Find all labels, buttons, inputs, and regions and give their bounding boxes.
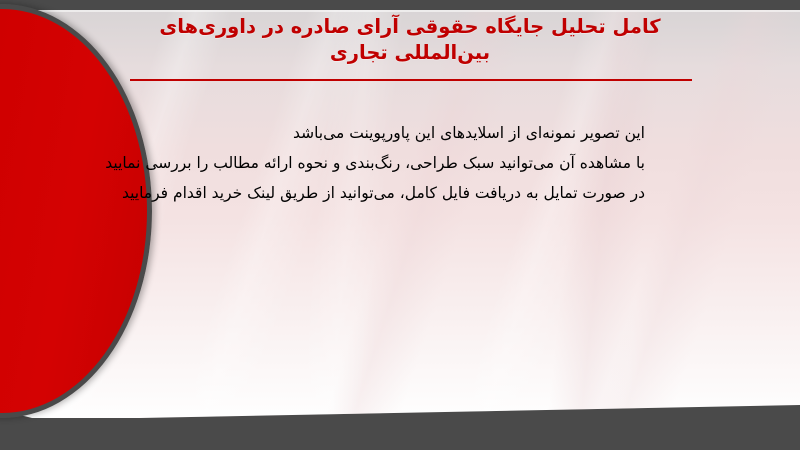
body-line-3: در صورت تمایل به دریافت فایل کامل، می‌تو… (125, 178, 645, 208)
slide-frame-bottom-bar (0, 418, 800, 450)
slide-body-text: این تصویر نمونه‌ای از اسلایدهای این پاور… (125, 118, 645, 208)
slide-title-line-1: کامل تحلیل جایگاه حقوقی آرای صادره در دا… (120, 14, 700, 40)
body-line-2: با مشاهده آن می‌توانید سبک طراحی، رنگ‌بن… (125, 148, 645, 178)
presentation-slide: کامل تحلیل جایگاه حقوقی آرای صادره در دا… (0, 0, 800, 450)
body-line-1: این تصویر نمونه‌ای از اسلایدهای این پاور… (125, 118, 645, 148)
slide-title-line-2: بین‌المللی تجاری (120, 40, 700, 66)
slide-frame-top-bar (0, 0, 800, 10)
slide-title: کامل تحلیل جایگاه حقوقی آرای صادره در دا… (120, 14, 700, 66)
title-divider-rule (130, 79, 692, 81)
